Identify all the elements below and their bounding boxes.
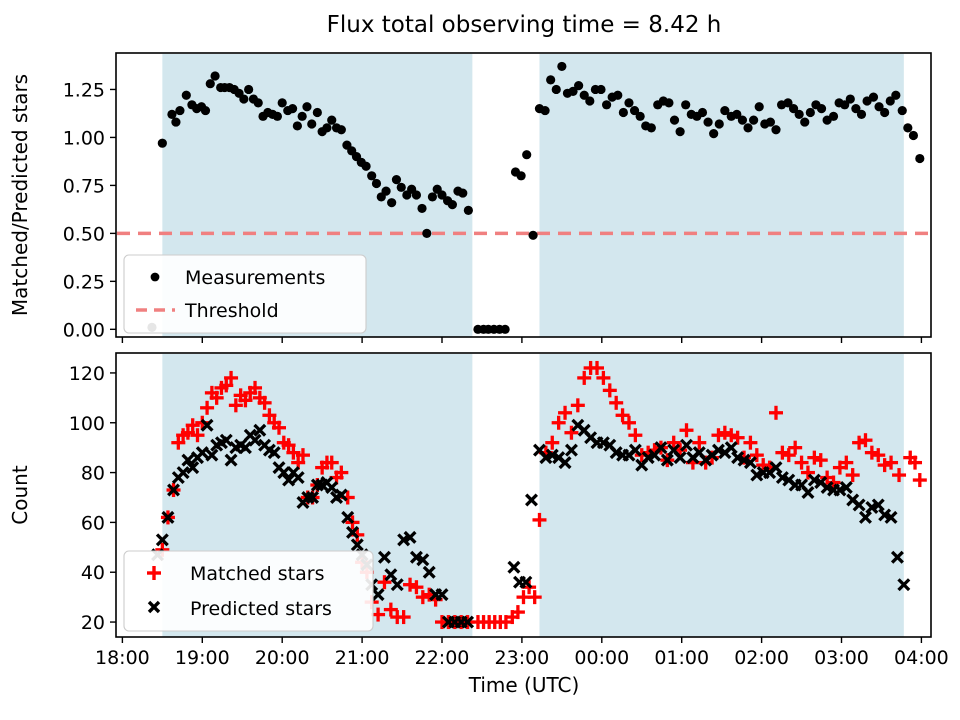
measurement-point bbox=[206, 79, 215, 88]
measurement-point bbox=[817, 104, 826, 113]
measurement-point bbox=[397, 183, 406, 192]
x-tick-label: 20:00 bbox=[255, 647, 310, 669]
measurement-point bbox=[273, 112, 282, 121]
x-tick-label: 22:00 bbox=[415, 647, 470, 669]
measurement-point bbox=[585, 96, 594, 105]
x-tick-label: 04:00 bbox=[894, 647, 949, 669]
legend-label-threshold: Threshold bbox=[184, 300, 279, 322]
measurement-point bbox=[909, 131, 918, 140]
measurement-point bbox=[381, 187, 390, 196]
measurement-point bbox=[313, 108, 322, 117]
y-tick-label: 0.25 bbox=[63, 271, 105, 293]
measurement-point bbox=[903, 123, 912, 132]
measurement-point bbox=[546, 75, 555, 84]
measurement-point bbox=[428, 192, 437, 201]
page-title: Flux total observing time = 8.42 h bbox=[327, 12, 722, 38]
plot-canvas: Flux total observing time = 8.42 h 0.000… bbox=[0, 0, 960, 720]
measurement-point bbox=[417, 204, 426, 213]
measurement-point bbox=[574, 81, 583, 90]
measurement-point bbox=[337, 125, 346, 134]
measurement-point bbox=[361, 162, 370, 171]
y-tick-label: 40 bbox=[81, 562, 105, 584]
measurement-point bbox=[891, 91, 900, 100]
measurement-point bbox=[322, 123, 331, 132]
measurement-point bbox=[298, 112, 307, 121]
measurement-point bbox=[327, 116, 336, 125]
measurement-point bbox=[175, 106, 184, 115]
legend-label-matched-stars: Matched stars bbox=[190, 563, 324, 585]
y-tick-label: 1.00 bbox=[63, 127, 105, 149]
measurement-point bbox=[647, 123, 656, 132]
measurement-point bbox=[458, 188, 467, 197]
measurement-point bbox=[771, 125, 780, 134]
measurement-point bbox=[619, 108, 628, 117]
measurement-point bbox=[676, 127, 685, 136]
y-tick-label: 1.25 bbox=[63, 79, 105, 101]
measurement-point bbox=[915, 154, 924, 163]
measurement-point bbox=[448, 200, 457, 209]
x-tick-label: 00:00 bbox=[574, 647, 629, 669]
y-tick-label: 100 bbox=[69, 413, 105, 435]
measurement-point bbox=[806, 108, 815, 117]
y-tick-label: 0.50 bbox=[63, 223, 105, 245]
measurement-point bbox=[698, 108, 707, 117]
ratio-panel-legend[interactable]: Measurements Threshold bbox=[124, 255, 366, 333]
x-tick-label: 18:00 bbox=[95, 647, 150, 669]
measurement-point bbox=[288, 104, 297, 113]
x-axis-label: Time (UTC) bbox=[468, 673, 580, 697]
measurement-point bbox=[703, 117, 712, 126]
measurement-point bbox=[367, 171, 376, 180]
measurement-point bbox=[602, 100, 611, 109]
measurement-point bbox=[898, 106, 907, 115]
measurement-point bbox=[302, 102, 311, 111]
ratio-panel: 0.000.250.500.751.001.25 Matched/Predict… bbox=[8, 53, 931, 343]
measurement-point bbox=[422, 229, 431, 238]
measurement-point bbox=[709, 129, 718, 138]
y-tick-label: 0.00 bbox=[63, 319, 105, 341]
legend-label-predicted-stars: Predicted stars bbox=[190, 598, 332, 620]
measurement-point bbox=[664, 98, 673, 107]
legend-label-measurements: Measurements bbox=[185, 267, 325, 289]
measurement-point bbox=[528, 231, 537, 240]
measurement-point bbox=[743, 123, 752, 132]
measurement-point bbox=[829, 112, 838, 121]
measurement-point bbox=[738, 116, 747, 125]
measurement-point bbox=[210, 71, 219, 80]
measurement-point bbox=[557, 62, 566, 71]
measurement-point bbox=[501, 325, 510, 334]
legend-marker-dot-icon bbox=[151, 273, 160, 282]
measurement-point bbox=[540, 106, 549, 115]
measurement-point bbox=[800, 117, 809, 126]
figure-root: Flux total observing time = 8.42 h 0.000… bbox=[0, 0, 960, 720]
measurement-point bbox=[681, 100, 690, 109]
x-tick-label: 23:00 bbox=[495, 647, 550, 669]
measurement-point bbox=[171, 117, 180, 126]
measurement-point bbox=[278, 98, 287, 107]
y-tick-label: 80 bbox=[81, 463, 105, 485]
measurement-point bbox=[880, 108, 889, 117]
measurement-point bbox=[636, 112, 645, 121]
measurement-point bbox=[846, 94, 855, 103]
measurement-point bbox=[158, 139, 167, 148]
y-tick-label: 60 bbox=[81, 512, 105, 534]
measurement-point bbox=[387, 198, 396, 207]
x-tick-label: 01:00 bbox=[654, 647, 709, 669]
x-tick-label: 02:00 bbox=[734, 647, 789, 669]
measurement-point bbox=[869, 93, 878, 102]
measurement-point bbox=[857, 110, 866, 119]
measurement-point bbox=[749, 116, 758, 125]
measurement-point bbox=[596, 85, 605, 94]
measurement-point bbox=[244, 85, 253, 94]
measurement-point bbox=[372, 179, 381, 188]
measurement-point bbox=[522, 150, 531, 159]
measurement-point bbox=[254, 98, 263, 107]
measurement-point bbox=[795, 110, 804, 119]
measurement-point bbox=[307, 119, 316, 128]
ratio-panel-y-axis-label: Matched/Predicted stars bbox=[8, 74, 32, 316]
measurement-point bbox=[552, 85, 561, 94]
measurement-point bbox=[624, 98, 633, 107]
measurement-point bbox=[201, 106, 210, 115]
measurement-point bbox=[766, 117, 775, 126]
measurement-point bbox=[239, 94, 248, 103]
measurement-point bbox=[670, 116, 679, 125]
measurement-point bbox=[412, 190, 421, 199]
measurement-point bbox=[182, 91, 191, 100]
measurement-point bbox=[517, 171, 526, 180]
y-tick-label: 0.75 bbox=[63, 175, 105, 197]
y-tick-label: 20 bbox=[81, 612, 105, 634]
measurement-point bbox=[715, 119, 724, 128]
count-panel-y-axis-label: Count bbox=[8, 465, 32, 525]
measurement-point bbox=[755, 102, 764, 111]
y-tick-label: 120 bbox=[69, 363, 105, 385]
x-tick-label: 03:00 bbox=[814, 647, 869, 669]
x-tick-label: 21:00 bbox=[335, 647, 390, 669]
count-panel-legend[interactable]: Matched stars Predicted stars bbox=[124, 551, 373, 631]
x-tick-label: 19:00 bbox=[175, 647, 230, 669]
measurement-point bbox=[613, 91, 622, 100]
measurement-point bbox=[293, 121, 302, 130]
measurement-point bbox=[392, 175, 401, 184]
measurement-point bbox=[464, 206, 473, 215]
